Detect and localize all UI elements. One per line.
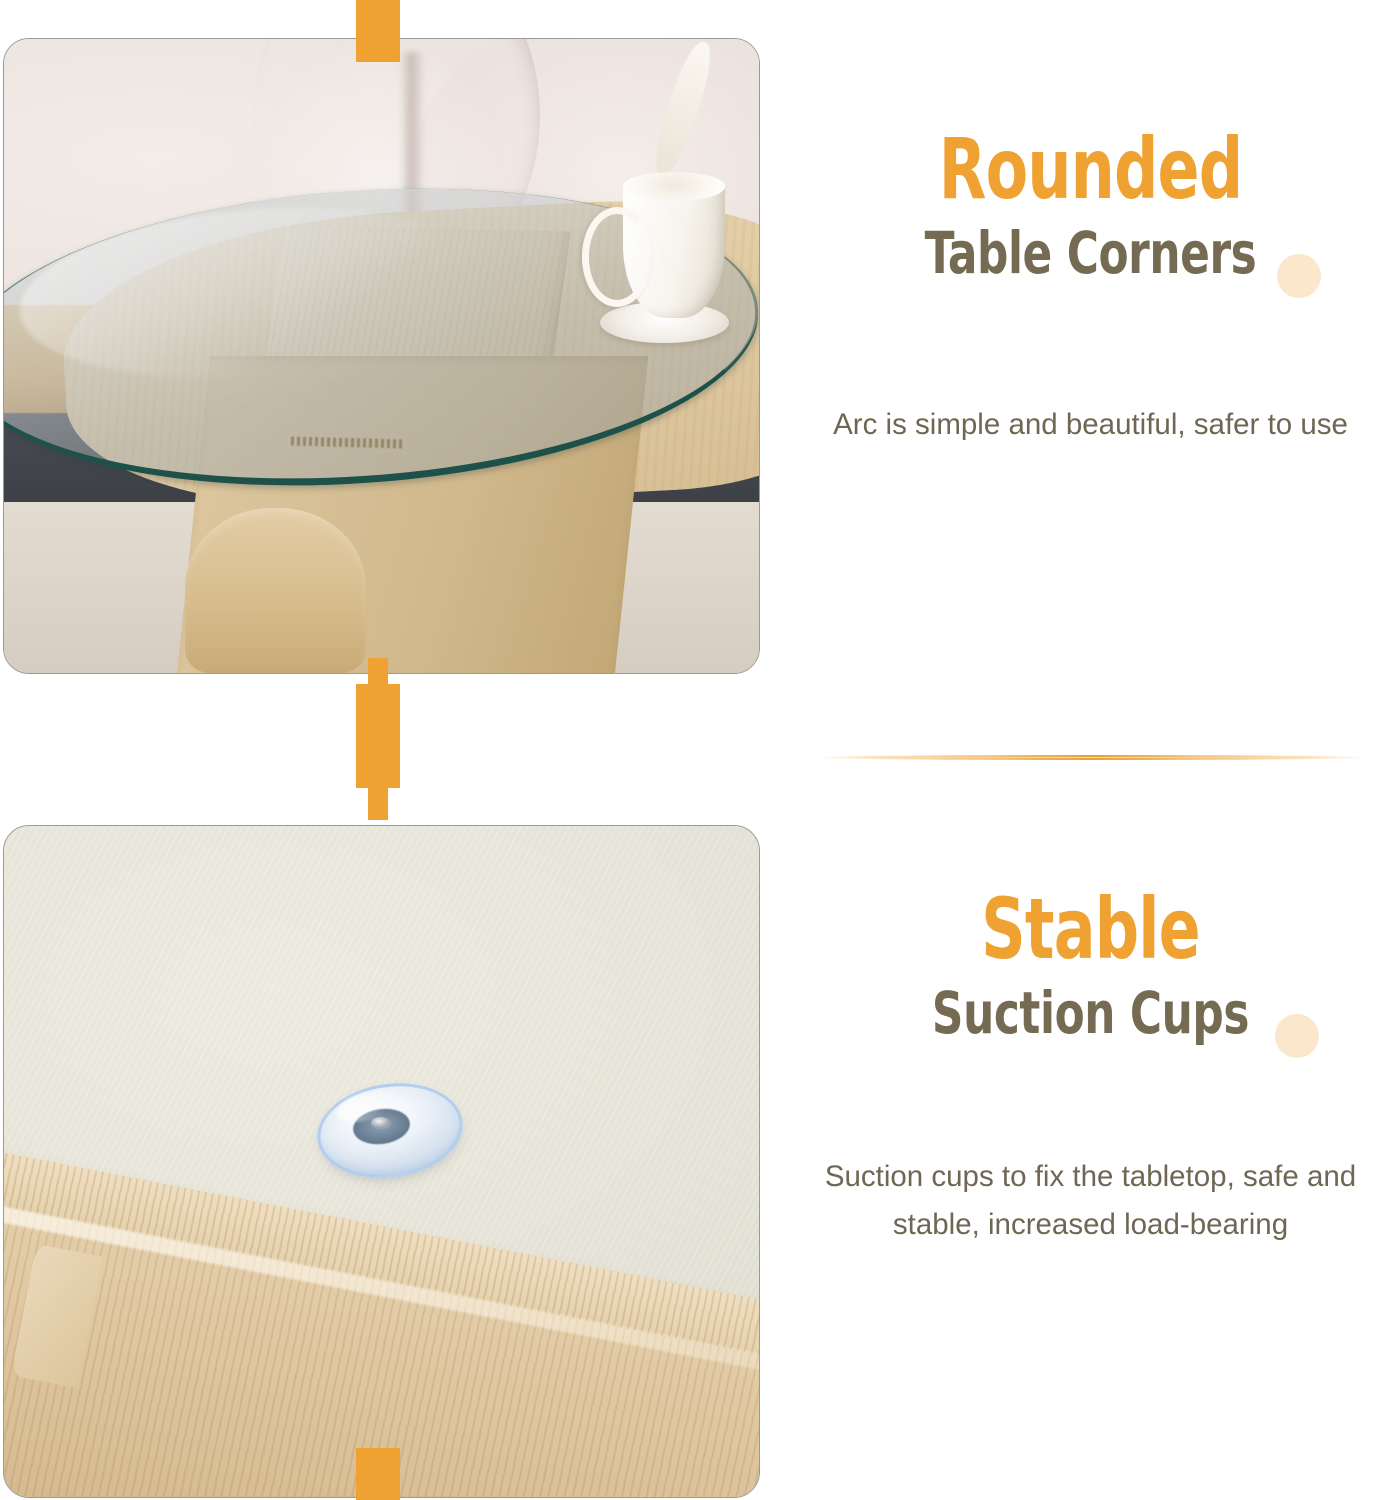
- orange-connector-top: [356, 0, 400, 62]
- photo-content: [4, 39, 759, 673]
- wooden-round-base: [185, 508, 366, 673]
- orange-connector-middle-stem-down: [368, 782, 388, 820]
- headline-secondary-suction-cups: Suction Cups: [838, 984, 1343, 1043]
- orange-connector-middle-bar: [356, 684, 400, 788]
- body-copy-stable-suction-cups: Suction cups to fix the tabletop, safe a…: [790, 1153, 1391, 1249]
- coffee-cup-rim: [623, 172, 725, 201]
- glass-coffee-table-photo: [3, 38, 760, 674]
- suction-cup-photo: [3, 825, 760, 1498]
- orange-connector-bottom: [356, 1448, 400, 1500]
- headline-primary-stable: Stable: [844, 888, 1337, 970]
- section-divider: [812, 755, 1372, 760]
- feature-block-rounded-table-corners: Rounded Table Corners Arc is simple and …: [790, 128, 1391, 449]
- coffee-cup-handle: [582, 207, 653, 307]
- headline-primary-rounded: Rounded: [844, 128, 1337, 210]
- feature-block-stable-suction-cups: Stable Suction Cups Suction cups to fix …: [790, 888, 1391, 1249]
- headline-secondary-wrapper: Suction Cups: [790, 984, 1391, 1043]
- infographic-page: Rounded Table Corners Arc is simple and …: [0, 0, 1391, 1500]
- headline-secondary-wrapper: Table Corners: [790, 224, 1391, 283]
- headline-secondary-table-corners: Table Corners: [838, 224, 1343, 283]
- photo-content: [4, 826, 759, 1497]
- body-copy-rounded-table-corners: Arc is simple and beautiful, safer to us…: [790, 401, 1391, 449]
